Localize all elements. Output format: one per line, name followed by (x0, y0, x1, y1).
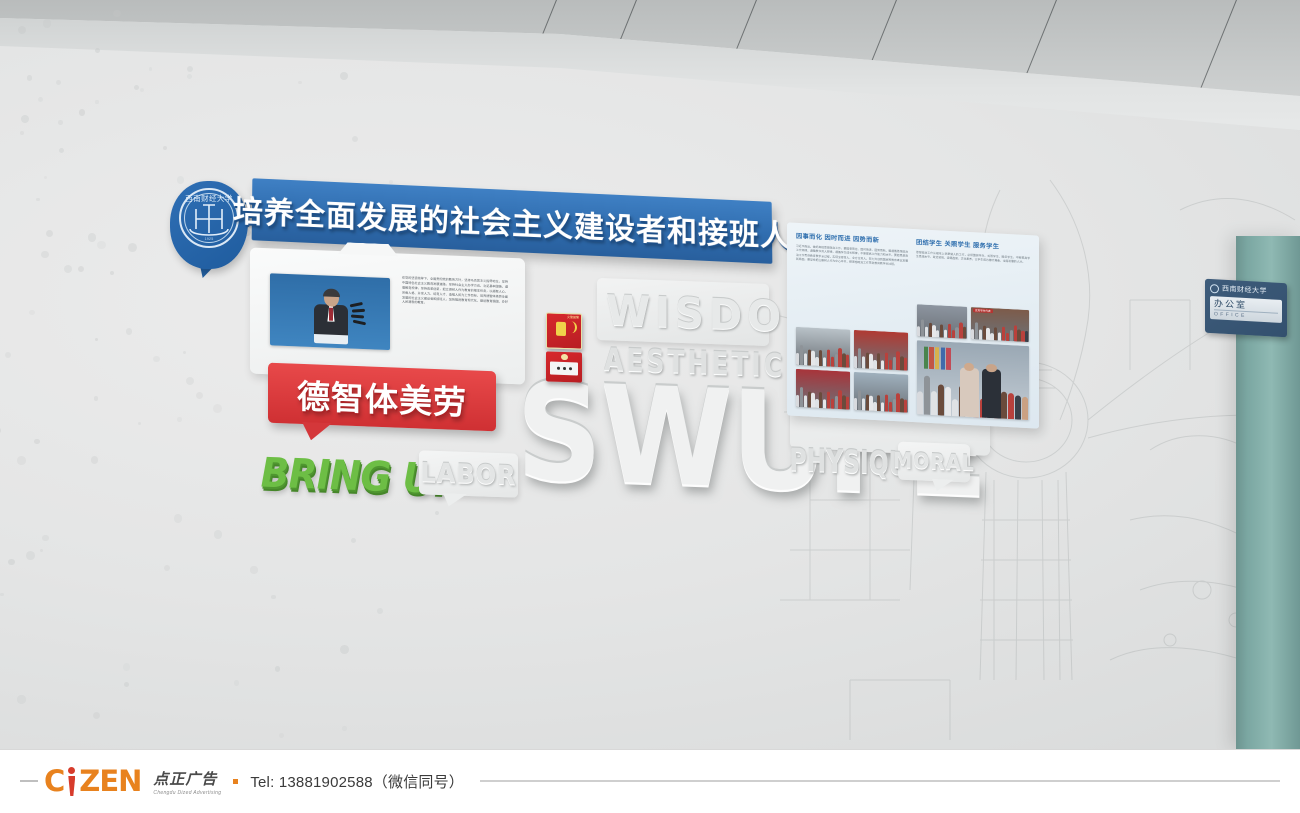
crowd-figure (869, 396, 872, 411)
handshake-students-photo-1 (796, 327, 850, 368)
crowd-figure (944, 330, 947, 338)
logo-i-dot (68, 767, 75, 774)
crowd-figure (827, 349, 830, 366)
crowd-figure (938, 384, 944, 416)
crowd-figure (998, 332, 1001, 340)
crowd-figure (940, 324, 943, 338)
intro-paragraph: 在党的坚强领导下，全面贯彻党的教育方针，坚持马克思主义指导地位，坚持中国特色社会… (402, 276, 508, 310)
figure-head (986, 364, 996, 373)
crowd-figure (866, 352, 869, 368)
crowd-figure (881, 360, 884, 370)
crowd-figure (835, 354, 838, 367)
leader-figure (982, 369, 1001, 419)
crowd-figure (800, 345, 803, 365)
crowd-figure (823, 357, 826, 367)
crowd-figure (1014, 325, 1017, 341)
crowd-figure (858, 348, 861, 368)
group-portrait-photo: 优秀学生代表 (971, 307, 1029, 342)
crowd-figure (917, 391, 923, 415)
footer-divider (0, 749, 1300, 750)
handshake-students-photo-4 (854, 372, 908, 413)
crowd-figure (796, 353, 799, 365)
crowd-figure (873, 402, 876, 411)
crowd-figure (990, 333, 993, 341)
crowd-figure (1017, 330, 1020, 342)
crowd-figure (804, 395, 807, 407)
crowd-figure (804, 353, 807, 365)
speaker-tie (329, 308, 333, 321)
crowd-figure (952, 399, 958, 416)
crowd-figure (955, 327, 958, 338)
handshake-students-photo-2 (854, 330, 908, 371)
crowd-figure (896, 351, 899, 370)
fire-alarm-button[interactable] (546, 351, 582, 382)
logo-i-stem (68, 776, 75, 796)
crowd-figure (1010, 330, 1013, 341)
crowd-figure (881, 402, 884, 412)
photo-crowd (971, 321, 1029, 342)
flag (941, 347, 945, 369)
crowd-figure (893, 357, 896, 370)
speaker-figure (310, 289, 352, 337)
university-seal-icon (1210, 283, 1219, 293)
red-slogan-banner: 德智体美劳 (268, 363, 496, 432)
alarm-dot (557, 367, 560, 370)
crowd-figure (838, 390, 841, 409)
crowd-figure (986, 327, 989, 340)
crowd-figure (948, 323, 951, 338)
crowd-figure (842, 395, 845, 409)
flag (924, 346, 928, 368)
lecture-hall-photo (917, 304, 967, 339)
crowd-figure (1015, 395, 1021, 420)
crowd-figure (885, 394, 888, 411)
moral-bubble: MORAL (898, 442, 970, 483)
logo-brand-cn: 点正广告 (153, 768, 221, 789)
crowd-figure (819, 350, 822, 366)
crowd-figure (929, 323, 932, 337)
crowd-figure (932, 325, 935, 338)
logo-letter-c: C (44, 768, 65, 796)
crowd-figure (862, 398, 865, 410)
crowd-figure (1021, 330, 1024, 341)
panel-column-1: 因事而化 因时而进 因势而新 习近平指出，做好高校思想政治工作，要因事而化、因时… (796, 231, 908, 267)
crowd-figure (796, 395, 799, 407)
crowd-figure (921, 319, 924, 336)
red-slogan-text: 德智体美劳 (297, 370, 467, 425)
crowd-figure (873, 360, 876, 369)
panel-body-2: 思想政治工作从根本上说是做人的工作，必须围绕学生、关照学生、服务学生，不断提高学… (916, 250, 1030, 265)
cizen-logo: C ZEN 点正广告 Chengdu Dized Advertising (44, 766, 221, 796)
room: 西南财经大学 办公室 OFFICE 西南财经大学 1925 (0, 0, 1300, 749)
panel-column-2: 团结学生 关照学生 服务学生 思想政治工作从根本上说是做人的工作，必须围绕学生、… (916, 237, 1030, 265)
crowd-figure (889, 360, 892, 370)
logo-brand-en: Chengdu Dized Advertising (153, 790, 221, 796)
right-info-panel: 因事而化 因时而进 因势而新 习近平指出，做好高校思想政治工作，要因事而化、因时… (787, 222, 1039, 428)
footer-dash-left (20, 780, 38, 782)
bell-icon (561, 354, 568, 360)
labor-text: LABOR (420, 457, 516, 491)
crowd-figure (846, 396, 849, 410)
crowd-figure (975, 322, 978, 339)
crowd-figure (1002, 326, 1005, 341)
alarm-wave-icon (567, 321, 577, 333)
crowd-figure (936, 330, 939, 337)
crowd-figure (896, 393, 899, 412)
crowd-figure (963, 327, 966, 339)
fire-alarm-sign: 火警报警 (546, 312, 582, 349)
crowd-figure (983, 326, 986, 340)
crowd-figure (1001, 391, 1007, 419)
fire-alarm-label: 火警报警 (567, 315, 579, 319)
crowd-figure (854, 398, 857, 410)
wall-display-photo: 西南财经大学 办公室 OFFICE 西南财经大学 1925 (0, 0, 1300, 813)
alarm-hand-icon (556, 322, 566, 336)
leaders-waving-photo (917, 340, 1029, 420)
handshake-students-photo-3 (796, 369, 850, 410)
crowd-figure (800, 387, 803, 407)
photo-crowd (854, 389, 908, 413)
crowd-figure (831, 399, 834, 409)
crowd-figure (815, 399, 818, 408)
crowd-figure (877, 353, 880, 369)
crowd-figure (1022, 396, 1028, 420)
alarm-dot (563, 367, 566, 370)
moral-text: MORAL (893, 448, 975, 476)
crowd-figure (846, 354, 849, 368)
footer-dash-right (480, 780, 1280, 782)
crowd-figure (1008, 393, 1014, 419)
speaker-photo (270, 273, 390, 350)
crowd-figure (959, 322, 962, 338)
footer-separator-dot (233, 779, 238, 784)
crowd-figure (885, 352, 888, 369)
crowd-figure (904, 357, 907, 371)
crowd-figure (1025, 331, 1028, 342)
logo-letter-i-icon (67, 766, 77, 796)
crowd-figure (838, 348, 841, 367)
footer-telephone: Tel: 13881902588（微信同号） (250, 771, 464, 792)
crowd-figure (808, 349, 811, 365)
crowd-figure (862, 356, 865, 368)
crowd-figure (815, 357, 818, 366)
office-door-sign: 西南财经大学 办公室 OFFICE (1205, 279, 1287, 338)
crowd-figure (925, 326, 928, 336)
logo-letters-zen: ZEN (79, 768, 141, 796)
crowd-figure (900, 398, 903, 412)
photo-crowd (796, 344, 850, 368)
crowd-figure (1006, 333, 1009, 342)
panel-heading-1: 因事而化 因时而进 因势而新 (796, 231, 908, 246)
microphones-icon (350, 302, 380, 319)
crowd-figure (831, 357, 834, 367)
crowd-figure (823, 399, 826, 409)
panel-body-1: 习近平指出，做好高校思想政治工作，要因事而化、因时而进、因势而新。要遵循思想政治… (796, 244, 908, 267)
flag (946, 348, 950, 370)
crowd-figure (811, 351, 814, 366)
crowd-figure (858, 390, 861, 410)
speaker-hair (323, 288, 340, 297)
alarm-dot (569, 367, 572, 370)
intro-paragraph-block: 在党的坚强领导下，全面贯彻党的教育方针，坚持马克思主义指导地位，坚持中国特色社会… (402, 276, 508, 362)
crowd-figure (900, 356, 903, 370)
crowd-figure (869, 354, 872, 369)
sign-university-name: 西南财经大学 (1222, 284, 1267, 297)
panel-heading-2: 团结学生 关照学生 服务学生 (916, 237, 1030, 252)
crowd-figure (979, 329, 982, 340)
crowd-figure (854, 356, 857, 368)
crowd-figure (945, 387, 951, 416)
logo-chinese-block: 点正广告 Chengdu Dized Advertising (153, 768, 221, 796)
crowd-figure (924, 375, 930, 415)
photo-crowd (917, 318, 967, 339)
crowd-figure (971, 329, 974, 339)
crowd-figure (866, 394, 869, 410)
labor-bubble: LABOR (419, 450, 518, 497)
spouse-figure (960, 368, 979, 418)
crowd-figure (893, 399, 896, 412)
crowd-figure (889, 402, 892, 412)
flag (935, 347, 939, 369)
alarm-button-window[interactable] (550, 362, 578, 376)
crowd-figure (904, 399, 907, 413)
footer-bar: C ZEN 点正广告 Chengdu Dized Advertising Tel… (0, 749, 1300, 813)
crowd-figure (931, 391, 937, 415)
flag (929, 347, 933, 369)
crowd-figure (835, 396, 838, 409)
crowd-figure (877, 395, 880, 411)
crowd-figure (811, 393, 814, 408)
crowd-figure (827, 391, 830, 408)
crowd-figure (842, 353, 845, 367)
photo-crowd (796, 386, 850, 410)
crowd-figure (994, 327, 997, 341)
crowd-figure (819, 392, 822, 408)
crowd-figure (808, 391, 811, 407)
crowd-figure (917, 326, 920, 336)
crowd-figure (952, 330, 955, 339)
photo-crowd (854, 347, 908, 371)
